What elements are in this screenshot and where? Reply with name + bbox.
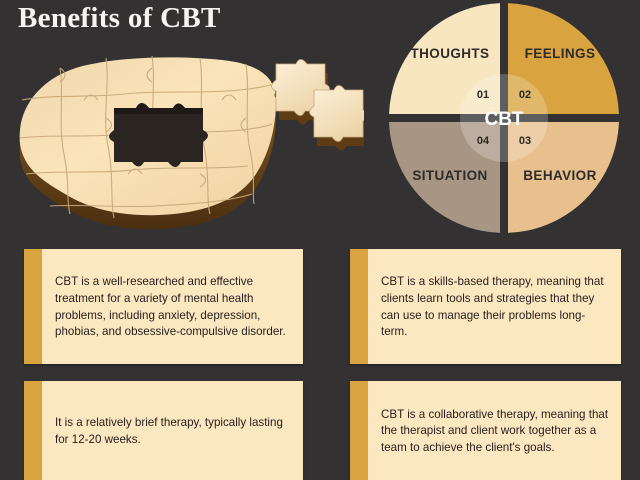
card-accent-bar — [350, 249, 368, 364]
infographic-canvas: Benefits of CBT — [0, 0, 640, 480]
fact-card-1: CBT is a well-researched and effective t… — [24, 249, 303, 364]
missing-piece-hole — [109, 103, 208, 167]
fact-card-3: It is a relatively brief therapy, typica… — [24, 381, 303, 480]
cbt-wheel-diagram: THOUGHTS FEELINGS BEHAVIOR SITUATION 01 … — [388, 2, 620, 234]
wheel-label-feelings: FEELINGS — [525, 46, 596, 61]
fact-card-2: CBT is a skills-based therapy, meaning t… — [350, 249, 621, 364]
page-title: Benefits of CBT — [18, 2, 221, 35]
card-body: CBT is a well-researched and effective t… — [42, 249, 303, 364]
wheel-number-04: 04 — [477, 135, 490, 147]
wheel-label-situation: SITUATION — [412, 168, 487, 183]
card-text: CBT is a well-researched and effective t… — [55, 274, 291, 340]
wheel-number-03: 03 — [519, 135, 531, 147]
brain-puzzle-icon — [14, 34, 364, 239]
wheel-label-thoughts: THOUGHTS — [411, 46, 490, 61]
card-accent-bar — [24, 381, 42, 480]
wheel-number-01: 01 — [477, 89, 489, 101]
card-accent-bar — [350, 381, 368, 480]
wheel-center-label: CBT — [484, 109, 523, 130]
fact-card-4: CBT is a collaborative therapy, meaning … — [350, 381, 621, 480]
card-text: CBT is a collaborative therapy, meaning … — [381, 407, 609, 457]
loose-puzzle-pieces — [272, 60, 365, 151]
card-body: CBT is a skills-based therapy, meaning t… — [368, 249, 621, 364]
wheel-number-02: 02 — [519, 89, 531, 101]
card-body: It is a relatively brief therapy, typica… — [42, 381, 303, 480]
card-text: CBT is a skills-based therapy, meaning t… — [381, 274, 609, 340]
card-accent-bar — [24, 249, 42, 364]
brain-puzzle-illustration — [14, 34, 364, 239]
card-text: It is a relatively brief therapy, typica… — [55, 415, 291, 448]
wheel-label-behavior: BEHAVIOR — [523, 168, 596, 183]
card-body: CBT is a collaborative therapy, meaning … — [368, 381, 621, 480]
